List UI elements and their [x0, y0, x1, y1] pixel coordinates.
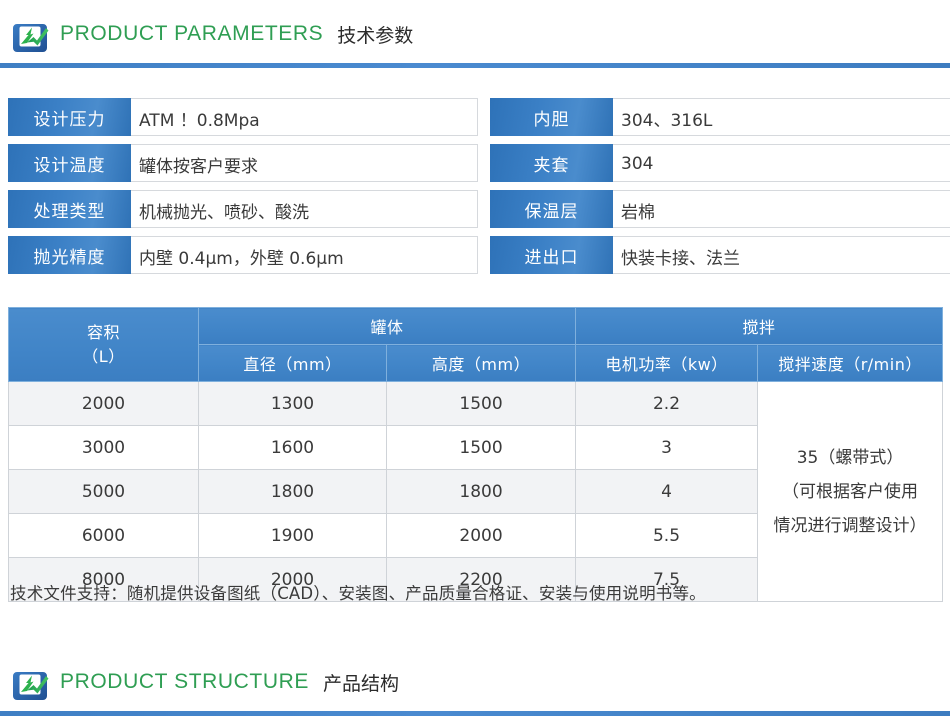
spec-label: 进出口: [490, 236, 613, 274]
table-body: 2000 1300 1500 2.2 35（螺带式） （可根据客户使用 情况进行…: [9, 382, 943, 602]
cell-diameter: 1600: [199, 426, 387, 470]
header-divider-rule: [0, 711, 950, 716]
spec-row: 抛光精度 内壁 0.4μm，外壁 0.6μm: [8, 236, 478, 274]
spec-row: 处理类型 机械抛光、喷砂、酸洗: [8, 190, 478, 228]
specification-table: 容积 （L） 罐体 搅拌 直径（mm） 高度（mm） 电机功率（kw） 搅拌速度…: [8, 307, 943, 602]
cell-height: 2000: [387, 514, 576, 558]
stir-speed-line3: 情况进行调整设计）: [759, 509, 941, 543]
cell-height: 1800: [387, 470, 576, 514]
section-title-cn: 技术参数: [337, 21, 413, 48]
cell-diameter: 1900: [199, 514, 387, 558]
cell-motor-power: 4: [576, 470, 758, 514]
column-header-height: 高度（mm）: [387, 345, 576, 382]
section-title-structure: PRODUCT STRUCTURE 产品结构: [60, 662, 399, 702]
header-divider-rule: [0, 63, 950, 68]
spec-row: 保温层 岩棉: [490, 190, 950, 228]
logo-square-lightning-icon: [12, 15, 52, 55]
spec-label: 设计温度: [8, 144, 131, 182]
spec-value: ATM ！0.8Mpa: [139, 99, 471, 137]
spec-row: 设计温度 罐体按客户要求: [8, 144, 478, 182]
cell-height: 1500: [387, 426, 576, 470]
spec-row: 内胆 304、316L: [490, 98, 950, 136]
section-title-parameters: PRODUCT PARAMETERS 技术参数: [60, 14, 413, 54]
spec-row: 进出口 快装卡接、法兰: [490, 236, 950, 274]
cell-motor-power: 2.2: [576, 382, 758, 426]
cell-diameter: 1800: [199, 470, 387, 514]
spec-label: 内胆: [490, 98, 613, 136]
cell-motor-power: 5.5: [576, 514, 758, 558]
column-header-tank-group: 罐体: [199, 308, 576, 345]
section-header-structure: PRODUCT STRUCTURE 产品结构: [0, 648, 950, 716]
spec-label: 夹套: [490, 144, 613, 182]
spec-value: 罐体按客户要求: [139, 145, 471, 183]
section-header-parameters: PRODUCT PARAMETERS 技术参数: [0, 0, 950, 68]
cell-volume: 3000: [9, 426, 199, 470]
spec-value: 内壁 0.4μm，外壁 0.6μm: [139, 237, 471, 275]
spec-label: 抛光精度: [8, 236, 131, 274]
spec-column-right: 内胆 304、316L 夹套 304 保温层 岩棉 进出口 快装卡接、法兰: [490, 98, 950, 282]
cell-motor-power: 3: [576, 426, 758, 470]
spec-value: 机械抛光、喷砂、酸洗: [139, 191, 471, 229]
section-title-cn: 产品结构: [323, 669, 399, 696]
column-header-stir-speed: 搅拌速度（r/min）: [758, 345, 943, 382]
spec-value: 304、316L: [621, 99, 950, 137]
spec-row: 夹套 304: [490, 144, 950, 182]
table-row: 2000 1300 1500 2.2 35（螺带式） （可根据客户使用 情况进行…: [9, 382, 943, 426]
column-header-volume-line1: 容积: [87, 323, 120, 342]
spec-label: 保温层: [490, 190, 613, 228]
stir-speed-line1: 35（螺带式）: [759, 441, 941, 475]
column-header-volume: 容积 （L）: [9, 308, 199, 382]
column-header-volume-line2: （L）: [82, 347, 124, 366]
spec-column-left: 设计压力 ATM ！0.8Mpa 设计温度 罐体按客户要求 处理类型 机械抛光、…: [8, 98, 478, 282]
spec-value: 快装卡接、法兰: [621, 237, 950, 275]
cell-volume: 5000: [9, 470, 199, 514]
cell-volume: 6000: [9, 514, 199, 558]
cell-stir-speed-merged: 35（螺带式） （可根据客户使用 情况进行调整设计）: [758, 382, 943, 602]
logo-square-lightning-icon: [12, 663, 52, 703]
specification-table-wrapper: 容积 （L） 罐体 搅拌 直径（mm） 高度（mm） 电机功率（kw） 搅拌速度…: [8, 307, 942, 602]
column-header-stir-group: 搅拌: [576, 308, 943, 345]
table-head: 容积 （L） 罐体 搅拌 直径（mm） 高度（mm） 电机功率（kw） 搅拌速度…: [9, 308, 943, 382]
spec-blocks: 设计压力 ATM ！0.8Mpa 设计温度 罐体按客户要求 处理类型 机械抛光、…: [0, 98, 950, 288]
column-header-motor-power: 电机功率（kw）: [576, 345, 758, 382]
table-header-row-group: 容积 （L） 罐体 搅拌: [9, 308, 943, 345]
table-note: 技术文件支持：随机提供设备图纸（CAD）、安装图、产品质量合格证、安装与使用说明…: [10, 580, 706, 604]
section-title-en: PRODUCT STRUCTURE: [60, 670, 309, 694]
cell-volume: 2000: [9, 382, 199, 426]
spec-label: 设计压力: [8, 98, 131, 136]
spec-row: 设计压力 ATM ！0.8Mpa: [8, 98, 478, 136]
cell-height: 1500: [387, 382, 576, 426]
column-header-diameter: 直径（mm）: [199, 345, 387, 382]
cell-diameter: 1300: [199, 382, 387, 426]
spec-label: 处理类型: [8, 190, 131, 228]
stir-speed-line2: （可根据客户使用: [759, 475, 941, 509]
section-title-en: PRODUCT PARAMETERS: [60, 22, 323, 46]
spec-value: 304: [621, 145, 950, 183]
spec-value: 岩棉: [621, 191, 950, 229]
